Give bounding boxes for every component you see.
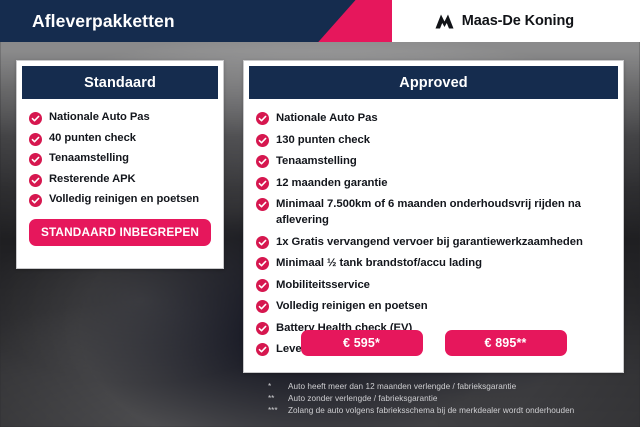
package-card-approved: Approved Nationale Auto Pas 130 punten c… bbox=[243, 60, 624, 373]
card-title-standaard: Standaard bbox=[84, 75, 156, 91]
list-item: Nationale Auto Pas bbox=[29, 110, 211, 126]
check-circle-icon bbox=[256, 155, 269, 168]
list-item: Nationale Auto Pas bbox=[256, 110, 611, 126]
card-header-approved: Approved bbox=[249, 66, 618, 99]
footnote-text: Zolang de auto volgens fabrieksschema bi… bbox=[288, 405, 574, 416]
footnote-marker: *** bbox=[268, 405, 282, 416]
feature-label: 1x Gratis vervangend vervoer bij garanti… bbox=[276, 234, 583, 250]
check-circle-icon bbox=[256, 134, 269, 147]
feature-list-approved: Nationale Auto Pas 130 punten check Tena… bbox=[256, 99, 611, 357]
check-circle-icon bbox=[29, 133, 42, 146]
card-header-standaard: Standaard bbox=[22, 66, 218, 99]
list-item: Volledig reinigen en poetsen bbox=[256, 298, 611, 314]
list-item: Resterende APK bbox=[29, 172, 211, 188]
list-item: 12 maanden garantie bbox=[256, 175, 611, 191]
list-item: 130 punten check bbox=[256, 132, 611, 148]
card-title-approved: Approved bbox=[399, 75, 467, 91]
feature-label: Tenaamstelling bbox=[276, 153, 357, 169]
list-item: Tenaamstelling bbox=[256, 153, 611, 169]
feature-label: Mobiliteitsservice bbox=[276, 277, 370, 293]
footnote-3: *** Zolang de auto volgens fabrieksschem… bbox=[268, 405, 628, 416]
footnote-text: Auto heeft meer dan 12 maanden verlengde… bbox=[288, 381, 516, 392]
list-item: Tenaamstelling bbox=[29, 151, 211, 167]
feature-label: Volledig reinigen en poetsen bbox=[49, 192, 199, 208]
brand-name: Maas-De Koning bbox=[462, 13, 574, 29]
feature-label: Nationale Auto Pas bbox=[276, 110, 378, 126]
check-circle-icon bbox=[256, 112, 269, 125]
feature-label: 130 punten check bbox=[276, 132, 370, 148]
check-circle-icon bbox=[256, 279, 269, 292]
check-circle-icon bbox=[256, 236, 269, 249]
footnote-block: * Auto heeft meer dan 12 maanden verleng… bbox=[268, 381, 628, 417]
package-card-standaard: Standaard Nationale Auto Pas 40 punten c… bbox=[16, 60, 224, 269]
page-header: Afleverpakketten Maas-De Koning bbox=[0, 0, 640, 42]
price-button-row: € 595* € 895** bbox=[244, 330, 623, 356]
feature-label: Resterende APK bbox=[49, 172, 136, 188]
check-circle-icon bbox=[29, 153, 42, 166]
check-circle-icon bbox=[29, 194, 42, 207]
feature-label: 40 punten check bbox=[49, 131, 136, 147]
footnote-marker: ** bbox=[268, 393, 282, 404]
list-item: 40 punten check bbox=[29, 131, 211, 147]
footnote-2: ** Auto zonder verlengde / fabrieksgaran… bbox=[268, 393, 628, 404]
feature-label: Volledig reinigen en poetsen bbox=[276, 298, 428, 314]
list-item: 1x Gratis vervangend vervoer bij garanti… bbox=[256, 234, 611, 250]
feature-label: Minimaal ½ tank brandstof/accu lading bbox=[276, 255, 482, 271]
feature-label: Minimaal 7.500km of 6 maanden onderhouds… bbox=[276, 196, 611, 228]
slide-root: Afleverpakketten Maas-De Koning Standaar… bbox=[0, 0, 640, 427]
standaard-button-wrap: STANDAARD INBEGREPEN bbox=[29, 219, 211, 246]
check-circle-icon bbox=[29, 174, 42, 187]
list-item: Mobiliteitsservice bbox=[256, 277, 611, 293]
feature-list-standaard: Nationale Auto Pas 40 punten check Tenaa… bbox=[29, 99, 211, 208]
check-circle-icon bbox=[29, 112, 42, 125]
standaard-inbegrepen-button[interactable]: STANDAARD INBEGREPEN bbox=[29, 219, 211, 246]
maas-de-koning-mark-icon bbox=[434, 13, 455, 30]
list-item: Minimaal 7.500km of 6 maanden onderhouds… bbox=[256, 196, 611, 228]
feature-label: 12 maanden garantie bbox=[276, 175, 387, 191]
footnote-text: Auto zonder verlengde / fabrieksgarantie bbox=[288, 393, 437, 404]
feature-label: Tenaamstelling bbox=[49, 151, 129, 167]
check-circle-icon bbox=[256, 198, 269, 211]
brand-lockup: Maas-De Koning bbox=[434, 0, 574, 42]
list-item: Volledig reinigen en poetsen bbox=[29, 192, 211, 208]
price-button-595[interactable]: € 595* bbox=[301, 330, 423, 356]
page-title: Afleverpakketten bbox=[32, 0, 175, 42]
feature-label: Nationale Auto Pas bbox=[49, 110, 150, 126]
footnote-1: * Auto heeft meer dan 12 maanden verleng… bbox=[268, 381, 628, 392]
check-circle-icon bbox=[256, 257, 269, 270]
footnote-marker: * bbox=[268, 381, 282, 392]
check-circle-icon bbox=[256, 177, 269, 190]
list-item: Minimaal ½ tank brandstof/accu lading bbox=[256, 255, 611, 271]
check-circle-icon bbox=[256, 300, 269, 313]
price-button-895[interactable]: € 895** bbox=[445, 330, 567, 356]
